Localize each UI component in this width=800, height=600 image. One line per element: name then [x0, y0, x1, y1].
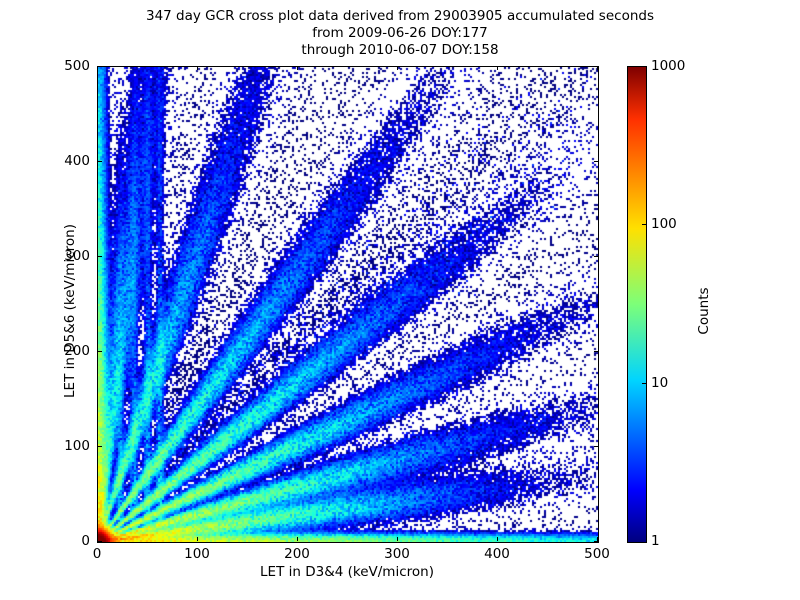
- y-tick-mark-right: [594, 161, 598, 162]
- y-tick-mark: [98, 256, 102, 257]
- y-tick-mark: [98, 541, 102, 542]
- y-tick-mark-right: [594, 256, 598, 257]
- colorbar-tick-label: 1: [651, 533, 660, 549]
- x-tick-label: 300: [384, 546, 410, 562]
- colorbar-tick-label: 1000: [651, 58, 685, 74]
- colorbar-gradient: [628, 67, 646, 542]
- y-tick-mark: [98, 351, 102, 352]
- x-tick-mark: [197, 537, 198, 541]
- y-tick-mark: [98, 66, 102, 67]
- title-line-1: 347 day GCR cross plot data derived from…: [0, 8, 800, 25]
- x-tick-mark: [297, 537, 298, 541]
- y-tick-mark-right: [594, 66, 598, 67]
- x-tick-mark: [397, 537, 398, 541]
- y-tick-mark-right: [594, 541, 598, 542]
- plot-area: [97, 66, 599, 543]
- y-tick-label: 500: [37, 58, 90, 74]
- figure-canvas: 347 day GCR cross plot data derived from…: [0, 0, 800, 600]
- colorbar-tick-label: 100: [651, 216, 677, 232]
- x-tick-mark-top: [397, 66, 398, 70]
- y-tick-mark: [98, 446, 102, 447]
- x-tick-mark: [497, 537, 498, 541]
- plot-title: 347 day GCR cross plot data derived from…: [0, 8, 800, 59]
- x-tick-label: 200: [284, 546, 310, 562]
- y-tick-mark: [98, 161, 102, 162]
- density-scatter-plot: [98, 67, 598, 542]
- x-tick-label: 100: [184, 546, 210, 562]
- title-line-3: through 2010-06-07 DOY:158: [0, 42, 800, 59]
- x-tick-mark-top: [497, 66, 498, 70]
- y-tick-label: 0: [37, 533, 90, 549]
- x-tick-mark-top: [297, 66, 298, 70]
- x-tick-label: 0: [93, 546, 102, 562]
- colorbar: [627, 66, 647, 543]
- y-tick-mark-right: [594, 351, 598, 352]
- title-line-2: from 2009-06-26 DOY:177: [0, 25, 800, 42]
- x-tick-mark-top: [197, 66, 198, 70]
- y-tick-mark-right: [594, 446, 598, 447]
- y-axis-label: LET in D5&6 (keV/micron): [62, 141, 78, 481]
- x-tick-label: 400: [484, 546, 510, 562]
- colorbar-tick-mark: [642, 224, 646, 225]
- x-axis-label: LET in D3&4 (keV/micron): [97, 564, 597, 580]
- x-tick-label: 500: [584, 546, 610, 562]
- colorbar-tick-mark: [642, 383, 646, 384]
- colorbar-tick-label: 10: [651, 375, 668, 391]
- colorbar-label: Counts: [696, 221, 712, 401]
